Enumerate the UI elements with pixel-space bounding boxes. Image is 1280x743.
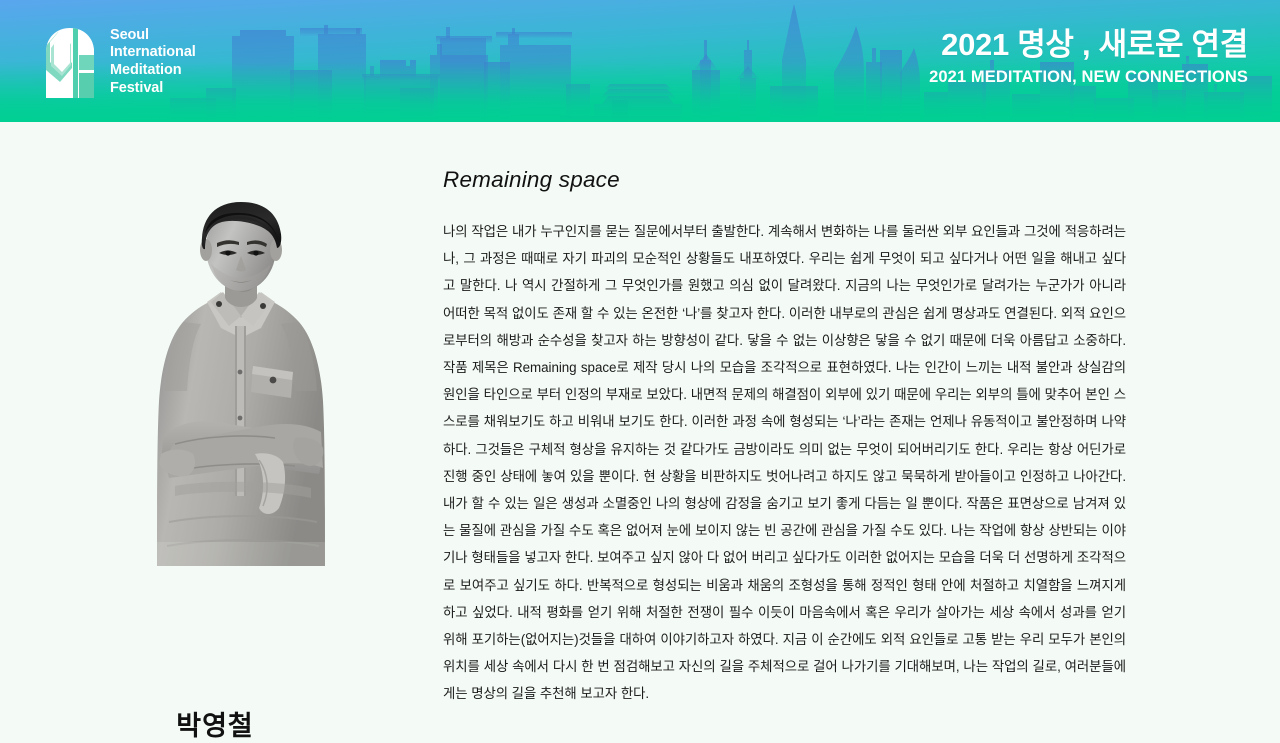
artist-statement-text: 나의 작업은 내가 누구인지를 묻는 질문에서부터 출발한다. 계속해서 변화하…	[443, 218, 1126, 708]
artist-portrait	[135, 186, 347, 566]
festival-logo-wordmark: Seoul International Meditation Festival	[110, 27, 196, 97]
banner-title-english: 2021 MEDITATION, NEW CONNECTIONS	[929, 66, 1248, 88]
meditation-arch-logo-icon	[42, 26, 98, 98]
main-content: 박영철 Remaining space 나의 작업은 내가 누구인지를 묻는 질…	[0, 122, 1280, 720]
festival-logo: Seoul International Meditation Festival	[42, 26, 196, 98]
artist-portrait-image	[135, 186, 347, 566]
festival-banner: Seoul International Meditation Festival …	[0, 0, 1280, 122]
banner-title-block: 2021 명상 , 새로운 연결 2021 MEDITATION, NEW CO…	[929, 26, 1248, 88]
banner-title-korean: 2021 명상 , 새로운 연결	[929, 26, 1248, 64]
artist-statement-column: Remaining space 나의 작업은 내가 누구인지를 묻는 질문에서부…	[443, 166, 1126, 708]
artist-name: 박영철	[0, 704, 430, 743]
work-title: Remaining space	[443, 166, 1126, 194]
artist-column: 박영철	[0, 122, 430, 720]
